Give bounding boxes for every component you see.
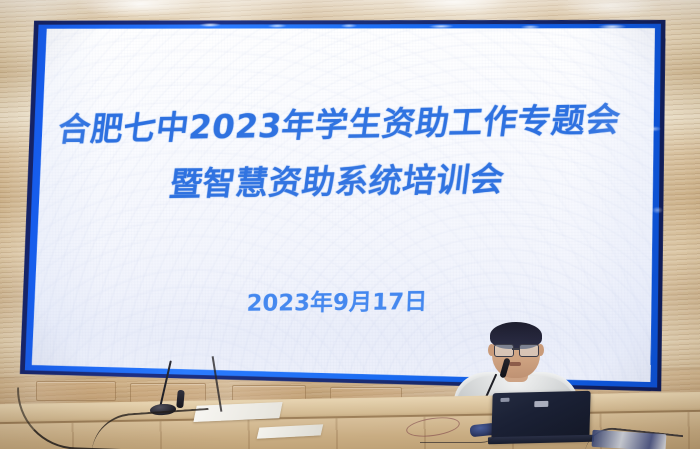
laptop-sticker (500, 398, 509, 402)
presenter-mouth (509, 362, 521, 366)
laptop (491, 391, 590, 441)
slide-date: 2023年9月17日 (16, 279, 668, 319)
glasses-lens-right (519, 344, 539, 357)
laptop-logo (534, 401, 548, 407)
slide-title-line-1: 合肥七中2023年学生资助工作专题会 (15, 92, 668, 152)
glasses-lens-left (494, 344, 514, 357)
glasses-bridge (512, 348, 519, 350)
glasses-icon (492, 344, 540, 356)
floor-object (592, 430, 667, 449)
cable-secondary (420, 424, 500, 443)
slide-title-line-2: 暨智慧资助系统培训会 (15, 150, 668, 208)
conference-room-photo: 合肥七中2023年学生资助工作专题会 暨智慧资助系统培训会 2023年9月17日 (0, 0, 700, 449)
